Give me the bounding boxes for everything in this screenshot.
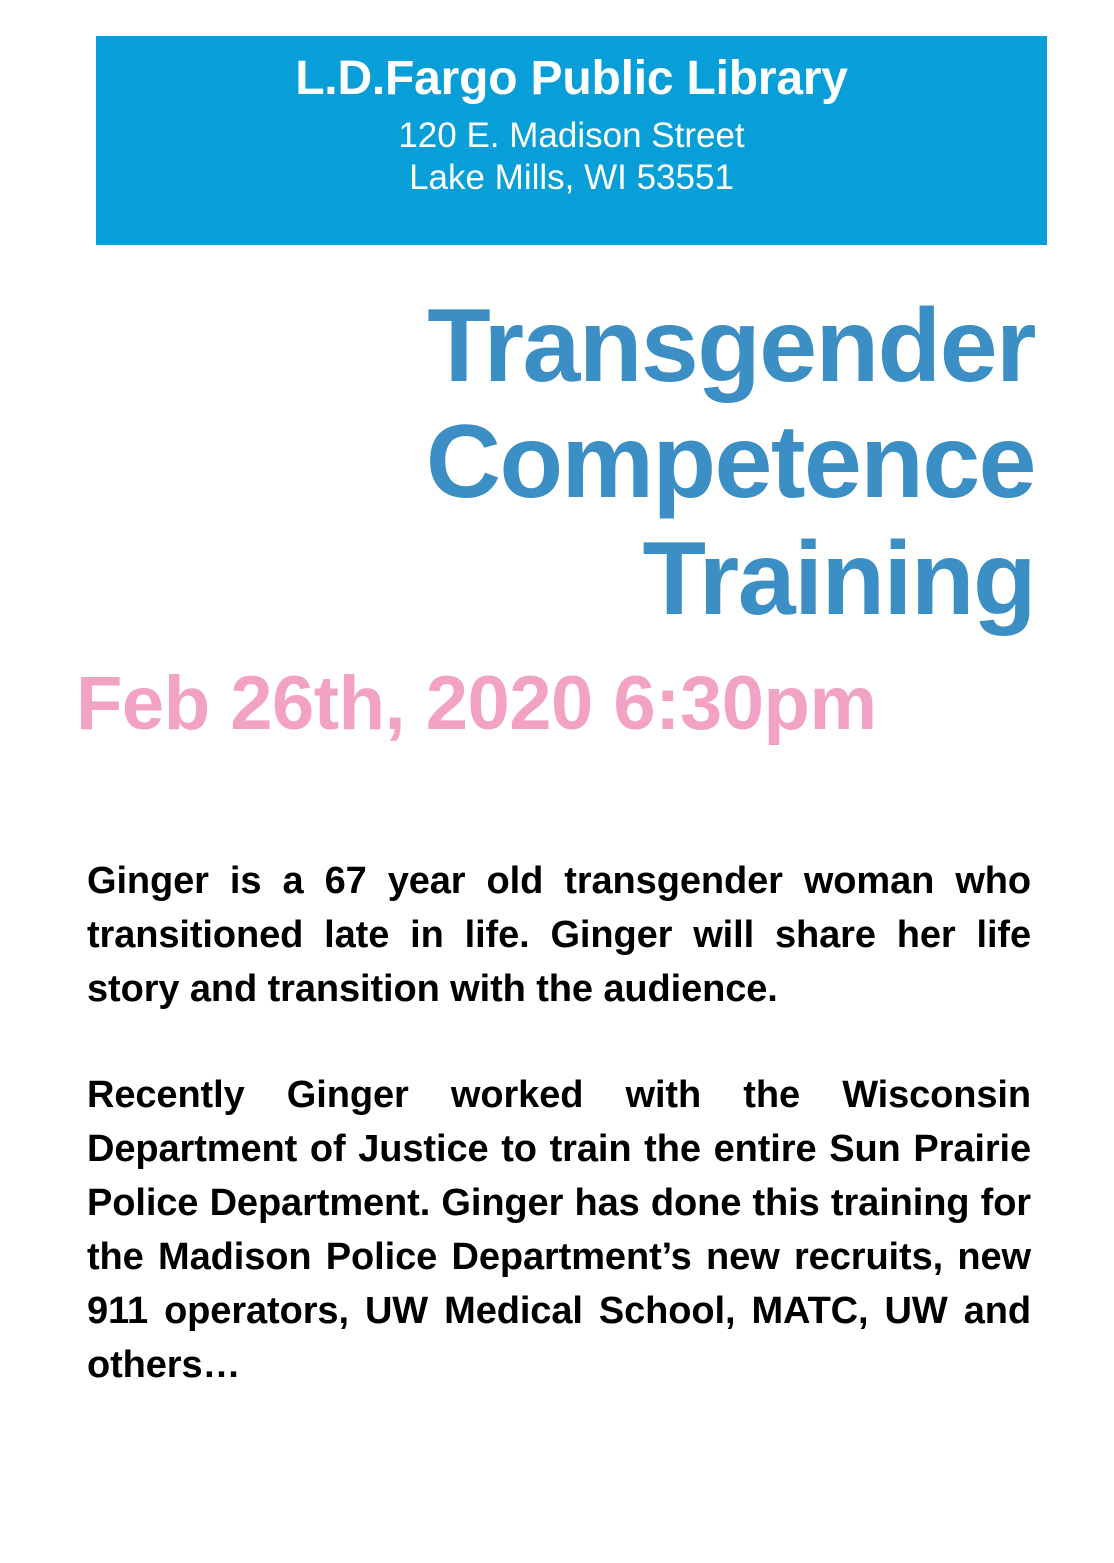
body-paragraph-1: Ginger is a 67 year old transgender woma…: [87, 855, 1031, 1017]
page-title-line-3: Training: [80, 521, 1035, 637]
page-title-line-1: Transgender: [80, 288, 1035, 404]
address-city-state-zip-line: Lake Mills, WI 53551: [96, 157, 1047, 200]
body-paragraph-2: Recently Ginger worked with the Wisconsi…: [87, 1069, 1031, 1393]
library-name: L.D.Fargo Public Library: [96, 50, 1047, 109]
event-datetime: Feb 26th, 2020 6:30pm: [76, 662, 1036, 746]
page-title: Transgender Competence Training: [80, 288, 1035, 637]
header-banner: L.D.Fargo Public Library 120 E. Madison …: [96, 36, 1047, 245]
poster-root: L.D.Fargo Public Library 120 E. Madison …: [0, 0, 1114, 1563]
address-street-line: 120 E. Madison Street: [96, 115, 1047, 158]
page-title-line-2: Competence: [80, 404, 1035, 520]
body-copy: Ginger is a 67 year old transgender woma…: [87, 855, 1031, 1393]
